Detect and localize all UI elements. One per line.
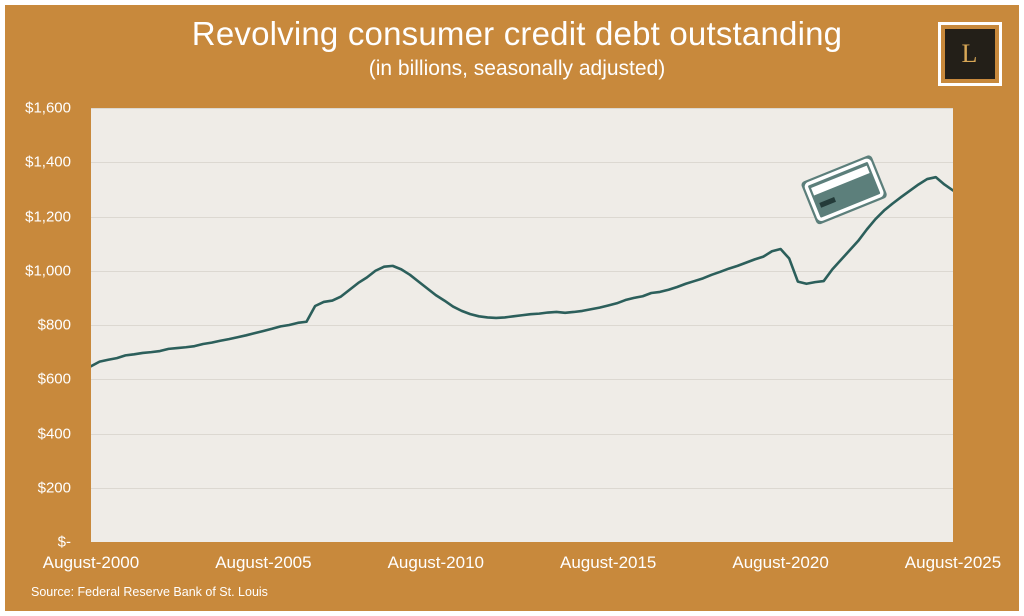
y-axis-tick-label: $400 xyxy=(0,425,71,442)
y-axis-tick-label: $200 xyxy=(0,479,71,496)
y-axis-tick-label: $800 xyxy=(0,317,71,334)
credit-card-icon xyxy=(795,145,891,229)
logo-badge: L xyxy=(945,29,995,79)
logo-letter: L xyxy=(962,41,979,67)
y-axis-tick-label: $600 xyxy=(0,371,71,388)
x-axis-tick-label: August-2015 xyxy=(560,553,656,573)
page-title: Revolving consumer credit debt outstandi… xyxy=(5,13,1024,55)
x-axis-tick-label: August-2005 xyxy=(215,553,311,573)
y-axis-tick-label: $1,200 xyxy=(0,208,71,225)
y-axis-tick-label: $- xyxy=(0,534,71,551)
x-axis-tick-label: August-2010 xyxy=(388,553,484,573)
title-block: Revolving consumer credit debt outstandi… xyxy=(5,13,1024,83)
x-axis-tick-label: August-2020 xyxy=(732,553,828,573)
y-axis-tick-label: $1,000 xyxy=(0,262,71,279)
logo: L xyxy=(938,22,1002,86)
source-note: Source: Federal Reserve Bank of St. Loui… xyxy=(31,585,268,599)
y-axis-tick-label: $1,600 xyxy=(0,100,71,117)
y-axis-tick-label: $1,400 xyxy=(0,154,71,171)
x-axis-tick-label: August-2000 xyxy=(43,553,139,573)
x-axis-tick-label: August-2025 xyxy=(905,553,1001,573)
chart-subtitle: (in billions, seasonally adjusted) xyxy=(5,55,1024,83)
chart-figure: Revolving consumer credit debt outstandi… xyxy=(0,0,1024,616)
